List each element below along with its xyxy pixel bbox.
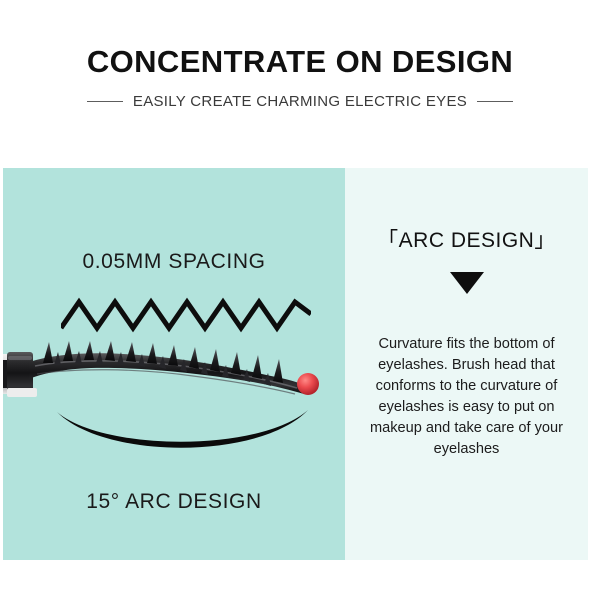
subtitle-row: EASILY CREATE CHARMING ELECTRIC EYES bbox=[0, 93, 600, 110]
mascara-wand-product-image bbox=[3, 336, 325, 408]
down-triangle-icon bbox=[450, 272, 484, 294]
right-feature-panel: 「ARC DESIGN」 Curvature fits the bottom o… bbox=[345, 168, 588, 560]
zigzag-spacing-icon bbox=[61, 294, 311, 336]
left-feature-panel: 0.05MM SPACING bbox=[3, 168, 345, 560]
arc-design-heading: 「ARC DESIGN」 bbox=[345, 224, 588, 254]
arc-angle-label: 15° ARC DESIGN bbox=[3, 490, 345, 514]
page-title: CONCENTRATE ON DESIGN bbox=[0, 44, 600, 80]
header-block: CONCENTRATE ON DESIGN EASILY CREATE CHAR… bbox=[0, 0, 600, 168]
down-arrow-row bbox=[345, 272, 588, 294]
rule-left-icon bbox=[87, 101, 123, 102]
arc-curve-illustration bbox=[55, 408, 310, 458]
feature-description: Curvature fits the bottom of eyelashes. … bbox=[355, 334, 578, 460]
product-feature-graphic: CONCENTRATE ON DESIGN EASILY CREATE CHAR… bbox=[0, 0, 600, 600]
spacing-label: 0.05MM SPACING bbox=[3, 250, 345, 274]
page-subtitle: EASILY CREATE CHARMING ELECTRIC EYES bbox=[133, 93, 467, 110]
rule-right-icon bbox=[477, 101, 513, 102]
